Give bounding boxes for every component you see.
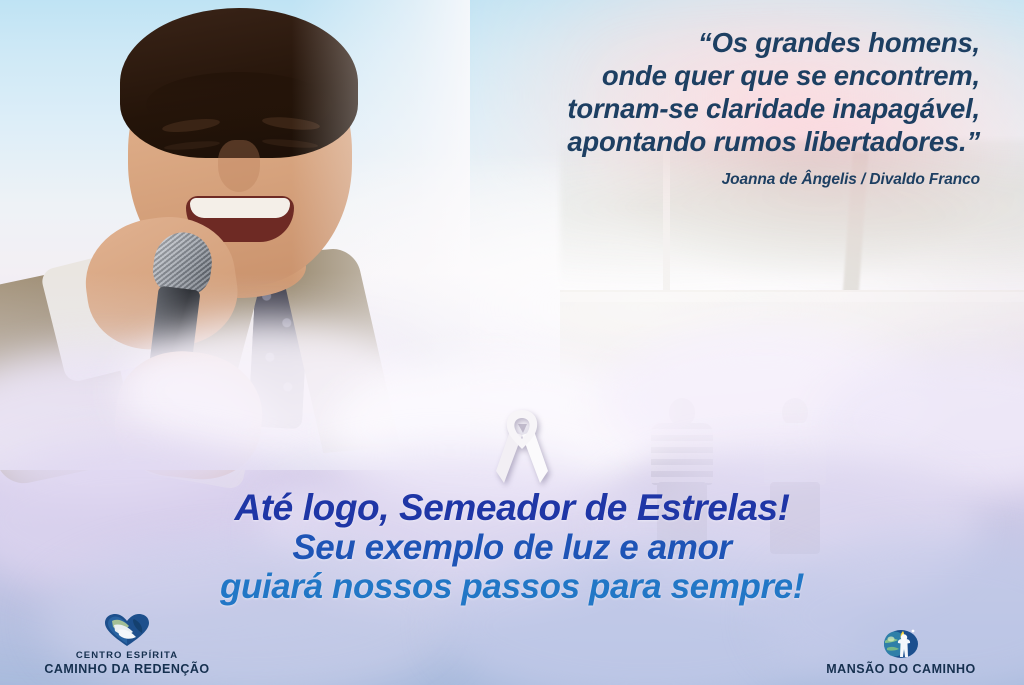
globe-figure-flame-icon [879, 619, 923, 659]
quote-line-3: tornam-se claridade inapagável, [420, 92, 980, 125]
heart-hands-icon [104, 613, 150, 647]
quote-line-4: apontando rumos libertadores.” [420, 125, 980, 158]
quote-block: “Os grandes homens, onde quer que se enc… [420, 26, 980, 189]
figure-torso [764, 423, 826, 485]
quote-line-1: “Os grandes homens, [420, 26, 980, 59]
portrait-nose [218, 140, 260, 192]
logo-centro-espirita-caminho-da-redencao: CENTRO ESPÍRITA CAMINHO DA REDENÇÃO [12, 613, 242, 677]
memorial-poster: “Os grandes homens, onde quer que se enc… [0, 0, 1024, 685]
figure-torso [651, 423, 713, 485]
logo-left-line-2: CAMINHO DA REDENÇÃO [12, 662, 242, 677]
logo-left-line-1: CENTRO ESPÍRITA [12, 650, 242, 662]
figure-head [782, 398, 808, 426]
white-awareness-ribbon-icon [494, 409, 550, 483]
portrait-hair [120, 8, 358, 158]
logo-right-line-1: MANSÃO DO CAMINHO [786, 662, 1016, 677]
logo-mansao-do-caminho: MANSÃO DO CAMINHO [786, 619, 1016, 677]
figure-head [669, 398, 695, 426]
headline-block: Até logo, Semeador de Estrelas! Seu exem… [0, 487, 1024, 606]
headline-line-3: guiará nossos passos para sempre! [0, 567, 1024, 606]
quote-line-2: onde quer que se encontrem, [420, 59, 980, 92]
quote-attribution: Joanna de Ângelis / Divaldo Franco [420, 171, 980, 189]
portrait-teeth [190, 198, 290, 218]
headline-line-2: Seu exemplo de luz e amor [0, 528, 1024, 567]
portrait-divaldo-franco [0, 0, 470, 470]
headline-line-1: Até logo, Semeador de Estrelas! [0, 487, 1024, 528]
